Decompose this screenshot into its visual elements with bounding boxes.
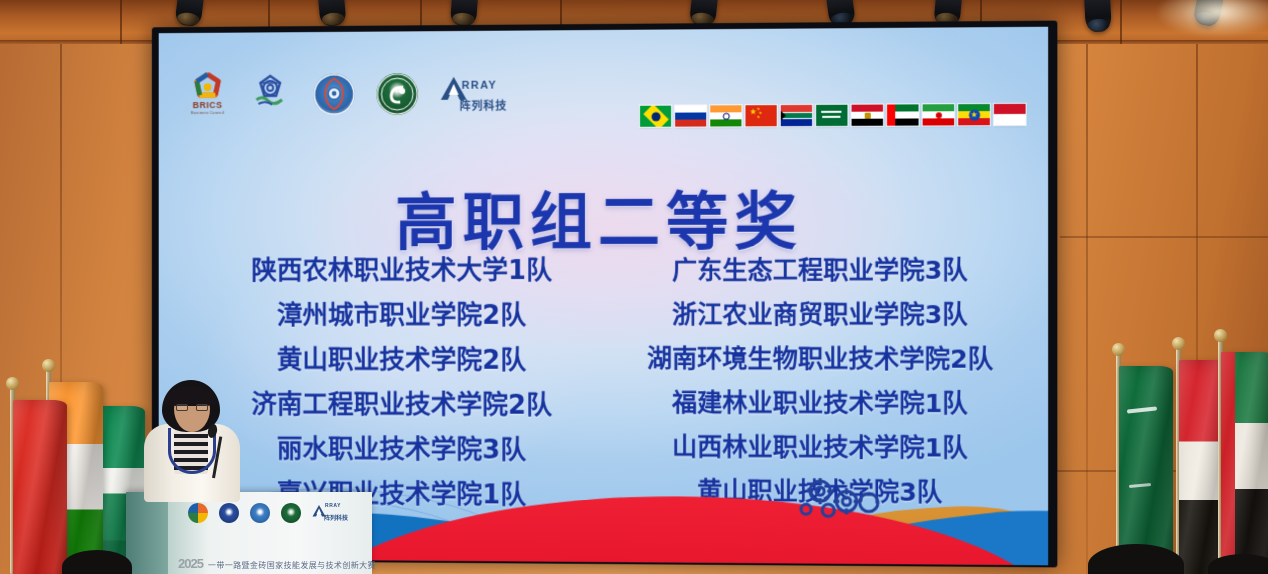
page-title: 高职组二等奖 <box>159 170 1048 262</box>
array-technology-logo: RRAY 阵列科技 <box>312 502 356 524</box>
turtle-emblem-logo <box>219 503 239 523</box>
stage-spotlight <box>450 0 478 27</box>
award-entry: 湖南环境生物职业技术学院2队 <box>617 346 1023 372</box>
podium-banner-text: 2025 一带一路暨金砖国家技能发展与技术创新大赛 <box>178 556 368 571</box>
led-display-screen: BRICS Business Council <box>152 21 1057 568</box>
flag-south-africa <box>781 105 812 126</box>
brics-logo-subtext: Business Council <box>188 109 227 114</box>
award-entry: 黄山职业技术学院2队 <box>204 347 601 374</box>
room-flag-china <box>10 386 64 574</box>
flag-united-arab-emirates <box>887 104 918 125</box>
room-flag-united-arab-emirates <box>1218 338 1266 574</box>
brics-logo-text: BRICS <box>188 100 227 109</box>
flag-egypt <box>852 105 883 126</box>
speaker-person <box>138 380 246 502</box>
array-technology-logo: RRAY 阵列科技 <box>440 71 515 115</box>
conference-hall-scene: BRICS Business Council <box>0 0 1268 574</box>
blue-circular-emblem-logo <box>250 503 270 523</box>
brics-business-council-logo <box>188 503 208 523</box>
award-entry: 广东生态工程职业学院3队 <box>617 258 1023 283</box>
array-logo-text: RRAY <box>462 79 498 91</box>
award-entry: 福建林业职业技术学院1队 <box>617 390 1023 416</box>
stage-spotlight <box>318 0 347 27</box>
podium: RRAY 阵列科技 2025 一带一路暨金砖国家技能发展与技术创新大赛 <box>126 492 372 574</box>
event-name: 一带一路暨金砖国家技能发展与技术创新大赛 <box>208 560 376 571</box>
turtle-emblem-logo <box>249 70 292 119</box>
array-logo-text-cn: 阵列科技 <box>324 513 348 522</box>
flag-indonesia <box>994 104 1026 125</box>
blue-circular-emblem-logo <box>313 73 354 115</box>
event-year: 2025 <box>178 556 203 571</box>
screen-content: BRICS Business Council <box>159 27 1048 566</box>
stage-spotlight <box>174 0 203 27</box>
array-logo-text-cn: 阵列科技 <box>460 97 508 113</box>
flag-india <box>710 105 741 126</box>
flag-saudi-arabia <box>816 105 847 126</box>
award-entry: 济南工程职业技术学院2队 <box>204 392 601 419</box>
room-flag-egypt <box>1176 346 1224 572</box>
stage-spotlight <box>1084 0 1112 33</box>
room-flag-saudi-arabia <box>1116 352 1172 574</box>
award-entry: 浙江农业商贸职业学院3队 <box>617 302 1023 327</box>
award-entry: 陕西农林职业技术大学1队 <box>204 258 601 284</box>
sponsor-logo-row: BRICS Business Council <box>188 69 515 119</box>
flag-ethiopia: ★ <box>958 104 990 125</box>
podium-logo-row: RRAY 阵列科技 <box>188 502 356 524</box>
ceiling-light-glare <box>1158 0 1268 36</box>
flag-iran <box>923 104 955 125</box>
glasses <box>176 404 208 412</box>
gear-icons <box>784 475 895 526</box>
flag-russia <box>675 105 706 126</box>
brics-business-council-logo: BRICS Business Council <box>188 72 227 118</box>
flag-brazil <box>640 106 671 127</box>
green-circular-emblem-logo <box>281 503 301 523</box>
array-logo-text: RRAY <box>325 503 341 509</box>
flag-china: ★ ★ ★ ★ <box>745 105 776 126</box>
member-country-flag-strip: ★ ★ ★ ★ <box>640 104 1026 127</box>
green-circular-emblem-logo <box>377 73 419 115</box>
award-entry: 漳州城市职业学院2队 <box>204 303 601 329</box>
